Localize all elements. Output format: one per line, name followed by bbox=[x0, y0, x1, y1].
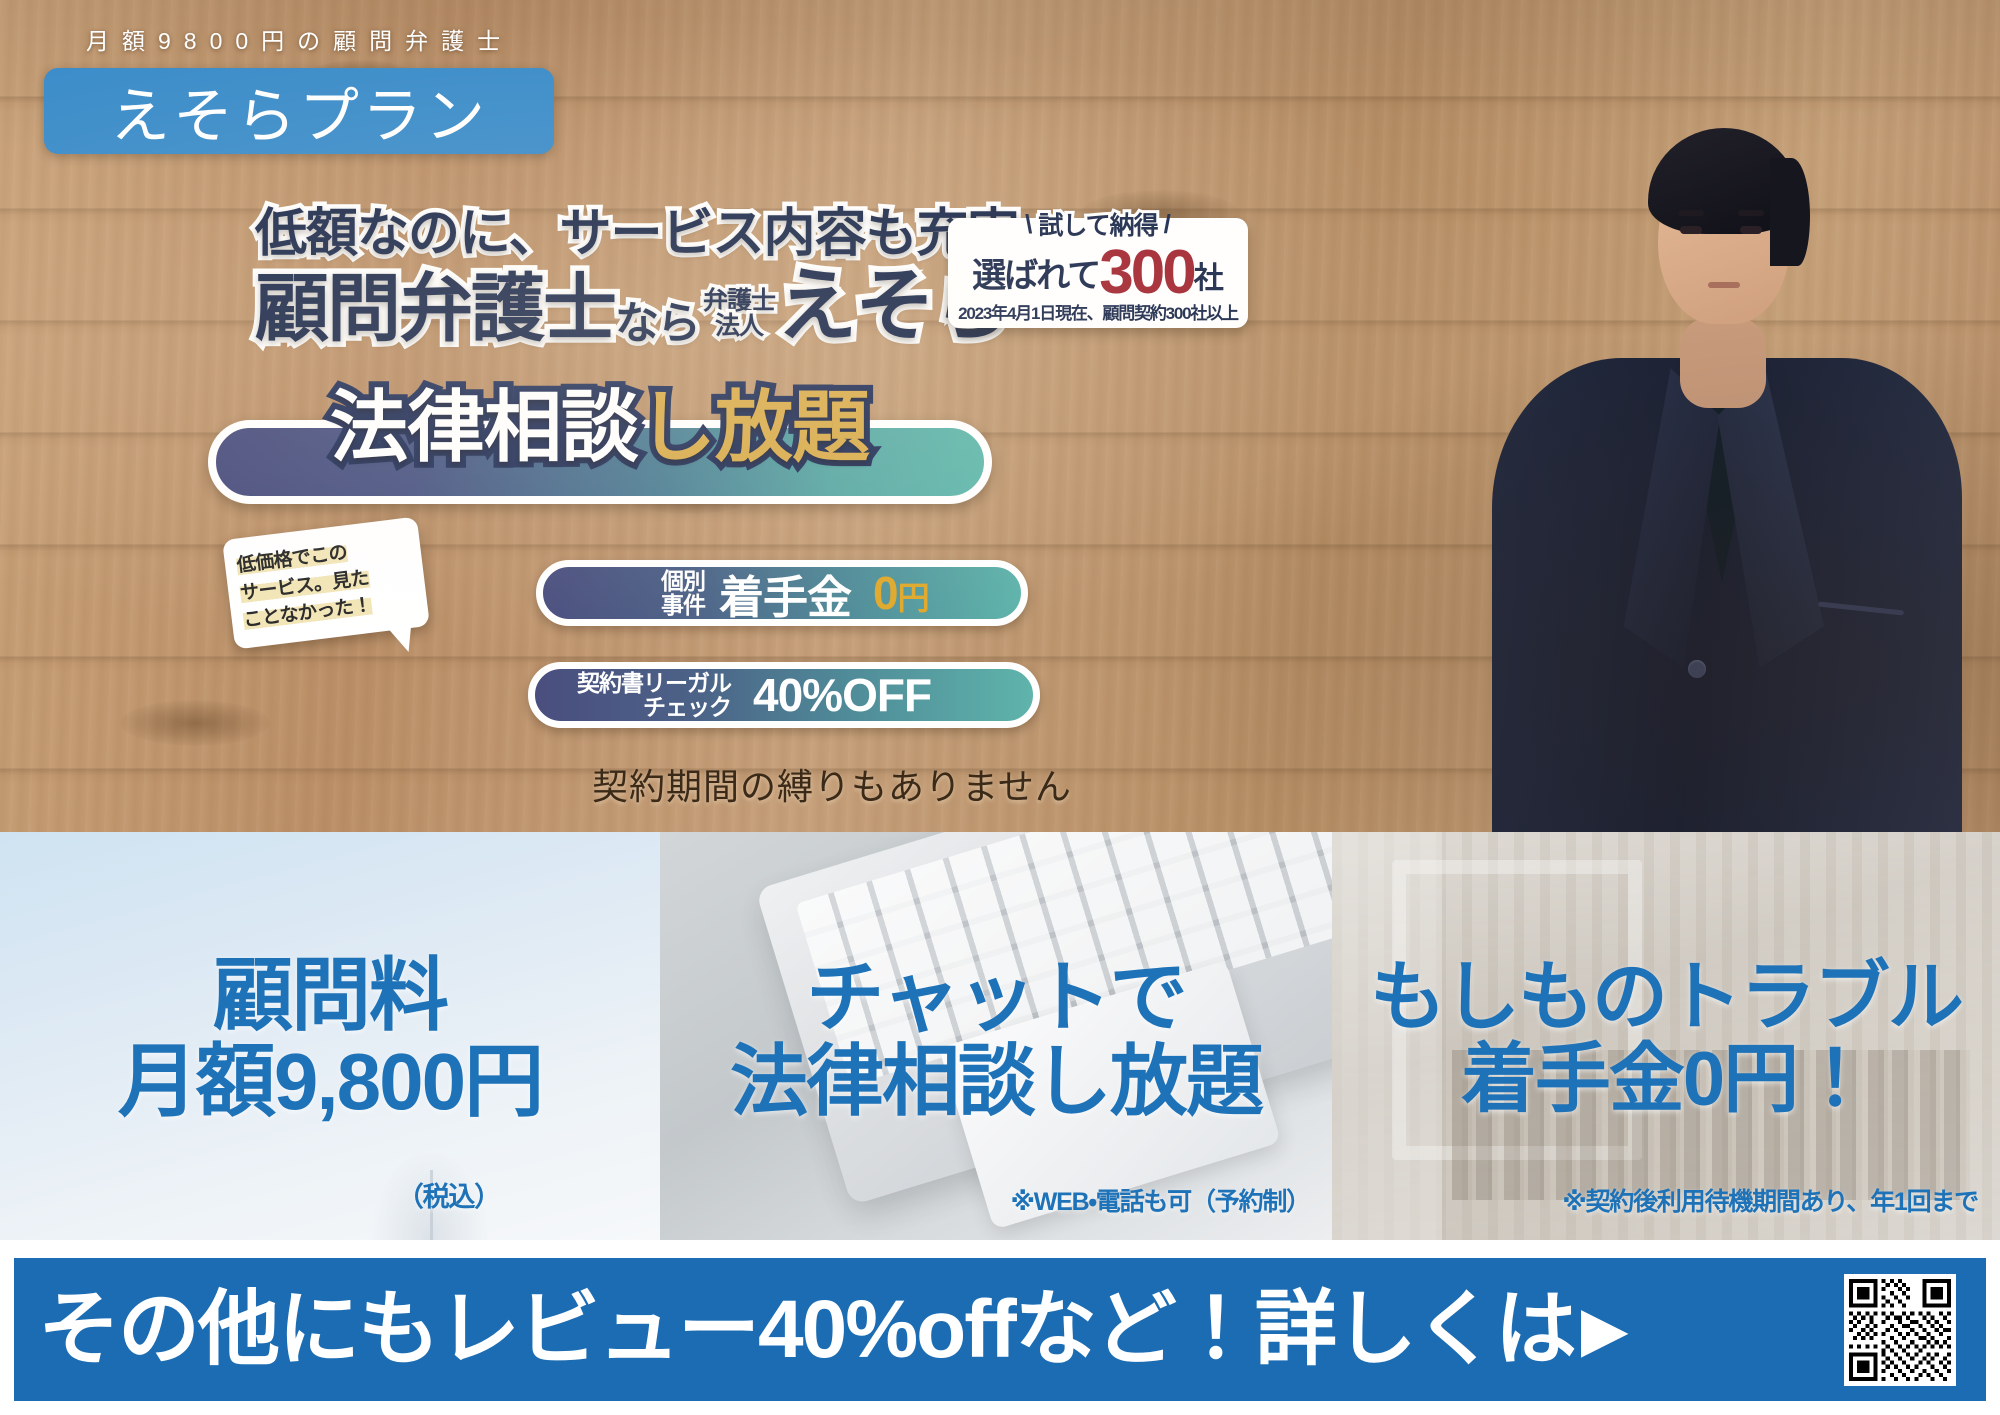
portrait-suit-button bbox=[1688, 660, 1706, 678]
hero-section: 月額9800円の顧問弁護士 えそらプラン 低額なのに、サービス内容も充実 顧問弁… bbox=[0, 0, 2000, 832]
offer-price-number: 0 bbox=[873, 567, 898, 619]
badge-main-row: 選ばれて 300 社 bbox=[948, 244, 1248, 301]
portrait-brow-right bbox=[1738, 210, 1764, 216]
wood-knot-decor bbox=[120, 700, 270, 746]
eyebrow-text: 月額9800円の顧問弁護士 bbox=[86, 22, 513, 56]
portrait-eye-left bbox=[1680, 226, 1702, 234]
plan-name-label: えそらプラン bbox=[110, 68, 488, 155]
offer-price-zero: 0円 bbox=[873, 566, 929, 620]
portrait-eye-right bbox=[1740, 226, 1762, 234]
client-count-badge: \ 試して納得 / 選ばれて 300 社 2023年4月1日現在、顧問契約300… bbox=[948, 218, 1248, 328]
ribbon-left-slash: \ bbox=[1025, 209, 1032, 240]
offer-price-unit: 円 bbox=[898, 580, 929, 616]
offer-pill-legal-check: 契約書リーガル チェック 40%OFF bbox=[528, 662, 1040, 728]
corporate-prefix: 弁護士 法人 bbox=[703, 289, 775, 339]
main-offer-text-accent: し放題 bbox=[638, 388, 869, 466]
headline-particle: なら bbox=[615, 302, 699, 346]
badge-label: 選ばれて bbox=[972, 248, 1099, 301]
offer-main-label: 着手金 bbox=[719, 561, 851, 626]
cta-bar[interactable]: その他にもレビュー40%offなど！詳しくは ▶ bbox=[14, 1258, 1986, 1401]
main-offer-text: 法律相談 し放題 bbox=[330, 388, 970, 466]
ribbon-right-slash: / bbox=[1164, 209, 1171, 240]
main-offer-text-primary: 法律相談 bbox=[330, 388, 638, 466]
badge-ribbon: \ 試して納得 / bbox=[948, 206, 1248, 242]
feature-line-2: 法律相談し放題 bbox=[730, 1039, 1262, 1123]
lawyer-portrait-photo bbox=[1440, 0, 2000, 832]
feature-line-1: チャットで bbox=[806, 955, 1185, 1039]
badge-unit: 社 bbox=[1194, 253, 1224, 301]
feature-line-2: 着手金0円！ bbox=[1461, 1039, 1871, 1121]
corporate-prefix-top: 弁護士 bbox=[703, 289, 775, 314]
feature-line-1: もしものトラブル bbox=[1370, 957, 1962, 1039]
feature-panel-trouble: もしものトラブル 着手金0円！ ※契約後利用待機期間あり、年1回まで bbox=[1332, 832, 2000, 1240]
corporate-prefix-bottom: 法人 bbox=[715, 314, 763, 339]
headline-keyword: 顧問弁護士 bbox=[255, 272, 615, 346]
badge-ribbon-text: 試して納得 bbox=[1038, 206, 1157, 242]
feature-note: ※WEB・電話も可（予約制） bbox=[1011, 1182, 1310, 1218]
offer-tag-contract-review: 契約書リーガル チェック bbox=[577, 671, 731, 719]
portrait-neck bbox=[1680, 318, 1766, 408]
feature-content: もしものトラブル 着手金0円！ bbox=[1332, 832, 2000, 1240]
portrait-mouth bbox=[1708, 282, 1740, 288]
plan-name-badge: えそらプラン bbox=[44, 68, 554, 154]
headline-line-2: 顧問弁護士 なら 弁護士 法人 えそら bbox=[255, 266, 915, 346]
headline-block: 低額なのに、サービス内容も充実 顧問弁護士 なら 弁護士 法人 えそら bbox=[255, 208, 915, 346]
feature-panel-chat: チャットで 法律相談し放題 ※WEB・電話も可（予約制） bbox=[660, 832, 1332, 1240]
feature-line-2: 月額9,800円 bbox=[118, 1039, 542, 1125]
hero-footnote: 契約期間の縛りもありません bbox=[592, 758, 1072, 810]
cta-text-block: その他にもレビュー40%offなど！詳しくは ▶ bbox=[38, 1289, 1627, 1371]
feature-note: ※契約後利用待機期間あり、年1回まで bbox=[1562, 1182, 1978, 1218]
feature-panels: 顧問料 月額9,800円 （税込） チャットで 法律相談し放題 ※WEB・電話も… bbox=[0, 832, 2000, 1240]
offer-pill-retainer-fee: 個別 事件 着手金 0円 bbox=[536, 560, 1028, 626]
feature-line-1: 顧問料 bbox=[213, 953, 447, 1039]
offer-tag-individual-case: 個別 事件 bbox=[661, 569, 705, 617]
offer-tag-line-2: 事件 bbox=[661, 593, 705, 617]
feature-content: 顧問料 月額9,800円 bbox=[0, 832, 660, 1240]
cta-label: その他にもレビュー40%offなど！詳しくは bbox=[38, 1289, 1575, 1371]
qr-code[interactable] bbox=[1844, 1274, 1956, 1386]
offer-tag-line-1: 契約書リーガル bbox=[577, 671, 731, 695]
feature-note: （税込） bbox=[397, 1175, 500, 1214]
portrait-brow-left bbox=[1678, 210, 1704, 216]
badge-footnote: 2023年4月1日現在、顧問契約300社以上 bbox=[948, 299, 1248, 324]
badge-number: 300 bbox=[1099, 244, 1193, 301]
offer-tag-line-1: 個別 bbox=[661, 569, 705, 593]
play-arrow-icon: ▶ bbox=[1581, 1299, 1627, 1361]
offer-discount-value: 40%OFF bbox=[753, 668, 931, 722]
headline-line-1: 低額なのに、サービス内容も充実 bbox=[255, 208, 915, 260]
offer-tag-line-2: チェック bbox=[643, 695, 731, 719]
feature-content: チャットで 法律相談し放題 bbox=[660, 832, 1332, 1240]
portrait-hair-side bbox=[1770, 158, 1810, 266]
feature-panel-retainer: 顧問料 月額9,800円 （税込） bbox=[0, 832, 660, 1240]
